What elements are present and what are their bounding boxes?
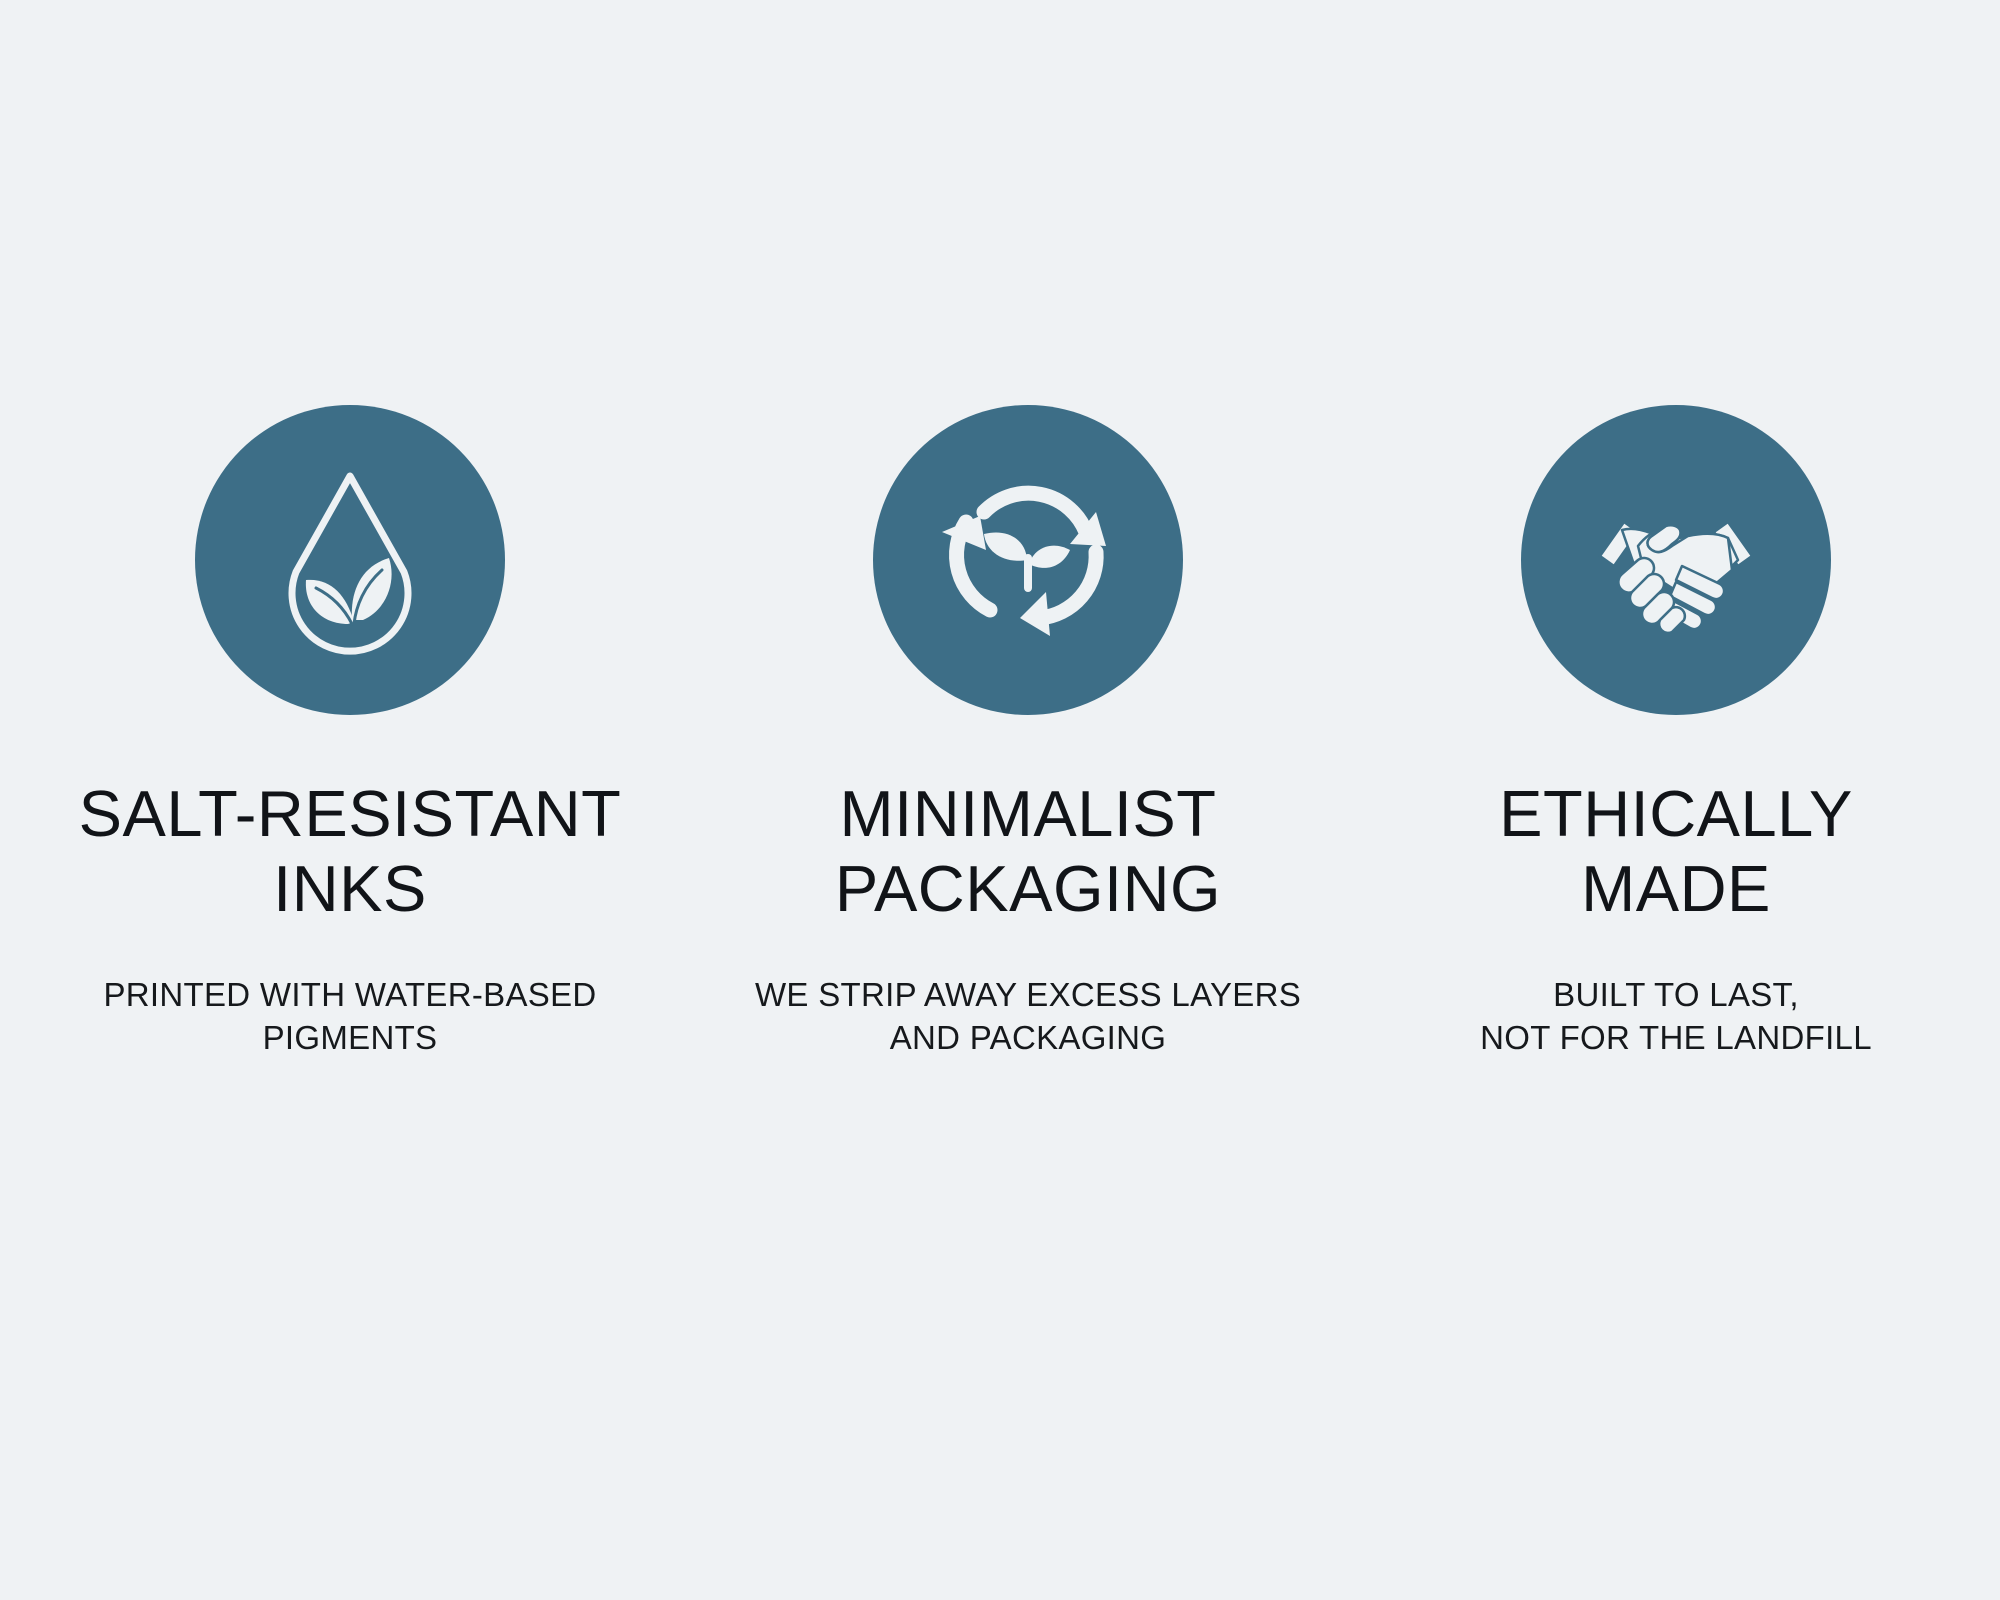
feature-title: SALT-RESISTANT INKS	[40, 777, 660, 927]
feature-icon-badge	[195, 405, 505, 715]
feature-card-salt-resistant-inks: SALT-RESISTANT INKS PRINTED WITH WATER-B…	[0, 405, 700, 1060]
feature-description: WE STRIP AWAY EXCESS LAYERS AND PACKAGIN…	[708, 973, 1348, 1061]
feature-title: ETHICALLY MADE	[1376, 777, 1976, 927]
sustainability-features-section: SALT-RESISTANT INKS PRINTED WITH WATER-B…	[0, 0, 2000, 1600]
feature-title: MINIMALIST PACKAGING	[728, 777, 1328, 927]
feature-card-ethically-made: ETHICALLY MADE BUILT TO LAST, NOT FOR TH…	[1356, 405, 1996, 1060]
feature-description: PRINTED WITH WATER-BASED PIGMENTS	[30, 973, 670, 1061]
water-drop-leaf-icon	[250, 460, 450, 660]
feature-icon-badge	[873, 405, 1183, 715]
feature-icon-badge	[1521, 405, 1831, 715]
features-row: SALT-RESISTANT INKS PRINTED WITH WATER-B…	[0, 405, 2000, 1060]
handshake-icon	[1576, 460, 1776, 660]
feature-description: BUILT TO LAST, NOT FOR THE LANDFILL	[1356, 973, 1996, 1061]
recycle-sprout-icon	[928, 460, 1128, 660]
feature-card-minimalist-packaging: MINIMALIST PACKAGING WE STRIP AWAY EXCES…	[703, 405, 1353, 1060]
